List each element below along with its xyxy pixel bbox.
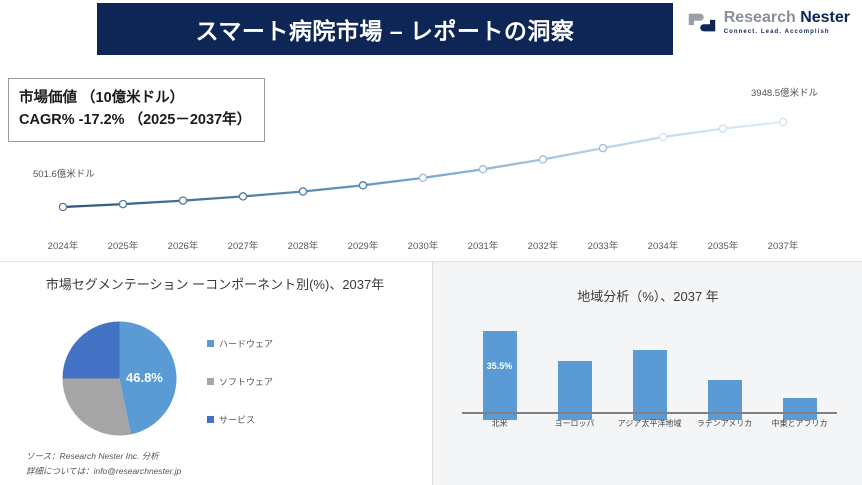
pie-legend-label: ハードウェア [219, 337, 273, 350]
year-axis-tick: 2034年 [648, 238, 679, 252]
bar [633, 350, 667, 420]
line-start-value-label: 501.6億米ドル [33, 166, 95, 180]
line-series-markers [59, 118, 786, 210]
bar: 35.5% [483, 331, 517, 420]
pie-legend: ハードウェアソフトウェアサービス [207, 325, 302, 438]
pie-legend-item: ハードウェア [207, 337, 302, 350]
line-data-point [479, 166, 486, 173]
year-axis-tick: 2024年 [48, 238, 79, 252]
pie-slice [63, 379, 131, 436]
line-data-point [119, 201, 126, 208]
line-data-point [419, 174, 426, 181]
pie-legend-label: サービス [219, 413, 255, 426]
brand-name: Research Nester [724, 10, 850, 26]
pie-slice-value-label: 46.8% [126, 370, 163, 385]
brand-tagline: Connect. Lead. Accomplish [724, 29, 850, 35]
line-data-point [719, 125, 726, 132]
bar-category-label: ヨーロッパ [555, 418, 595, 429]
bar [783, 398, 817, 421]
brand-text: Research Nester Connect. Lead. Accomplis… [724, 10, 850, 35]
bar [708, 380, 742, 420]
regional-analysis-title: 地域分析（%）、2037 年 [433, 262, 862, 307]
brand-name-nester: Nester [800, 9, 850, 26]
line-data-point [359, 182, 366, 189]
year-axis-tick: 2035年 [708, 238, 739, 252]
year-axis-tick: 2031年 [468, 238, 499, 252]
brand-name-research: Research [724, 9, 796, 26]
bar-chart-baseline [462, 412, 837, 414]
year-axis-tick: 2027年 [228, 238, 259, 252]
bar-category-label: ラテンアメリカ [697, 418, 753, 429]
line-series-path [63, 122, 783, 207]
year-axis-tick: 2037年 [768, 238, 799, 252]
bar-category-label: 中東とアフリカ [772, 418, 828, 429]
pie-svg [52, 316, 187, 441]
line-data-point [239, 193, 246, 200]
line-data-point [599, 145, 606, 152]
pie-legend-item: サービス [207, 413, 302, 426]
year-axis-tick: 2032年 [528, 238, 559, 252]
pie-legend-swatch [207, 416, 214, 423]
year-axis-tick: 2033年 [588, 238, 619, 252]
pie-legend-label: ソフトウェア [219, 375, 273, 388]
line-end-value-label: 3948.5億米ドル [751, 85, 818, 99]
year-axis-tick: 2030年 [408, 238, 439, 252]
line-data-point [659, 133, 666, 140]
line-data-point [299, 188, 306, 195]
line-chart-x-axis: 2024年2025年2026年2027年2028年2029年2030年2031年… [0, 238, 862, 256]
segmentation-pie-chart: 46.8% [52, 316, 187, 441]
bar-chart-x-axis: 北米ヨーロッパアジア太平洋地域ラテンアメリカ中東とアフリカ [462, 418, 837, 434]
bar-value-label: 35.5% [483, 361, 517, 371]
pie-slice [63, 322, 120, 379]
line-data-point [779, 118, 786, 125]
regional-bar-chart: 35.5% [462, 312, 837, 420]
segmentation-title: 市場セグメンテーション ーコンポーネント別(%)、2037年 [0, 262, 430, 295]
research-nester-logo-icon [687, 10, 717, 35]
year-axis-tick: 2026年 [168, 238, 199, 252]
year-axis-tick: 2028年 [288, 238, 319, 252]
header-title-band: スマート病院市場 – レポートの洞察 [97, 3, 673, 55]
pie-legend-swatch [207, 378, 214, 385]
market-value-line-chart [0, 60, 862, 240]
year-axis-tick: 2029年 [348, 238, 379, 252]
line-data-point [59, 203, 66, 210]
pie-legend-item: ソフトウェア [207, 375, 302, 388]
page-title: スマート病院市場 – レポートの洞察 [196, 12, 575, 46]
footer-source: ソース：Research Nester Inc. 分析 詳細については：info… [26, 449, 181, 479]
footer-contact-line: 詳細については：info@researchnester.jp [26, 464, 181, 479]
brand-logo: Research Nester Connect. Lead. Accomplis… [687, 10, 850, 35]
line-data-point [539, 156, 546, 163]
pie-legend-swatch [207, 340, 214, 347]
year-axis-tick: 2025年 [108, 238, 139, 252]
footer-source-line: ソース：Research Nester Inc. 分析 [26, 449, 181, 464]
line-data-point [179, 197, 186, 204]
bar-category-label: 北米 [492, 418, 508, 429]
bar-category-label: アジア太平洋地域 [618, 418, 682, 429]
